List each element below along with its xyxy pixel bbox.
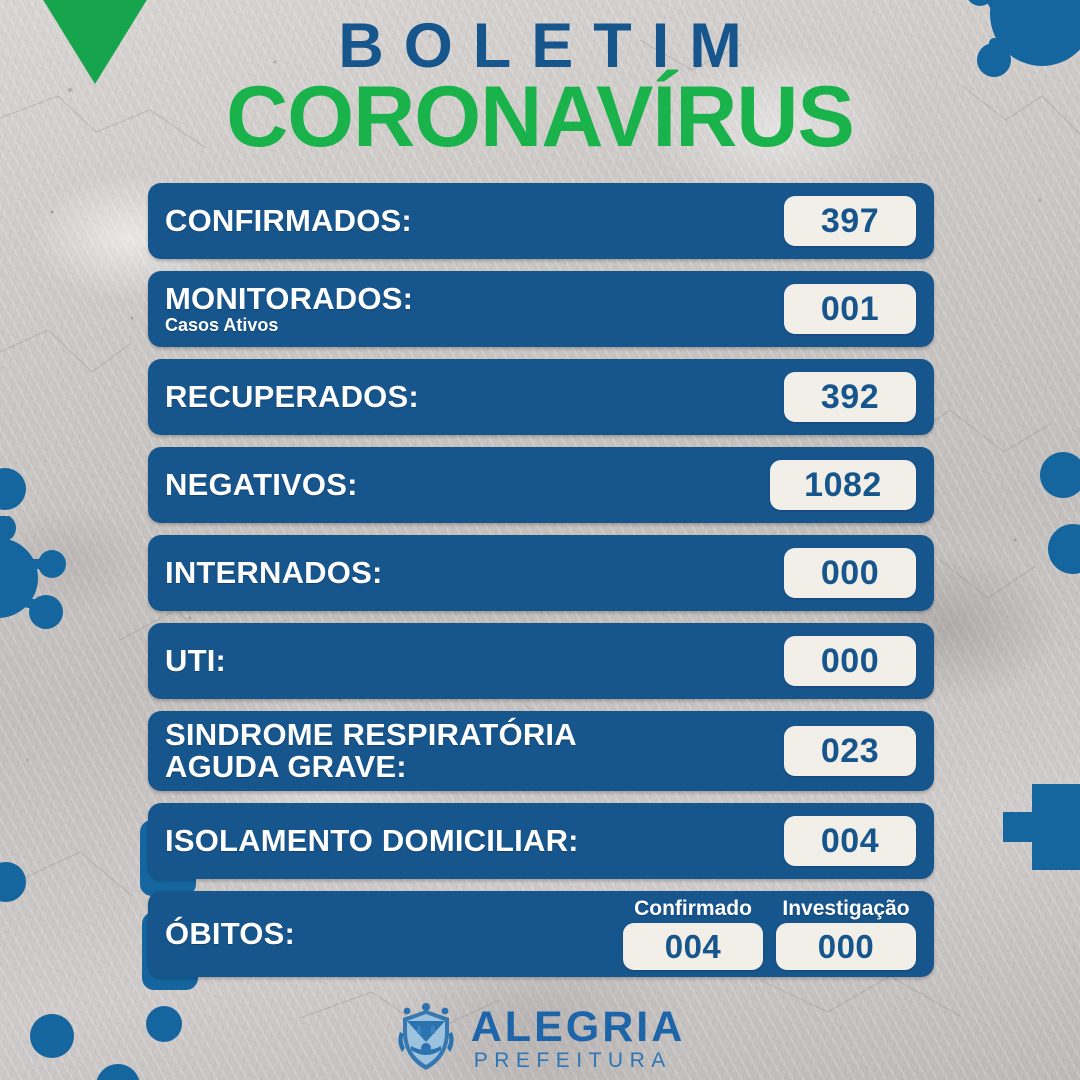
stat-label: CONFIRMADOS: [165, 205, 784, 237]
brand-text: ALEGRIA PREFEITURA [471, 1006, 686, 1071]
stat-row-obitos: ÓBITOS: Confirmado 004 Investigação 000 [148, 891, 934, 977]
obitos-caption: Confirmado [634, 898, 752, 919]
stat-label: UTI: [165, 645, 784, 677]
stat-value-badge: 004 [784, 816, 916, 866]
brand-name: ALEGRIA [471, 1006, 686, 1049]
stat-label-wrap: CONFIRMADOS: [165, 205, 784, 237]
stat-row-negativos: NEGATIVOS: 1082 [148, 447, 934, 523]
boletim-poster: BOLETIM CORONAVÍRUS CONFIRMADOS: 397 MON… [0, 0, 1080, 1080]
obitos-column-investigacao: Investigação 000 [776, 898, 916, 970]
decor-dot [0, 862, 26, 902]
coat-of-arms-icon [395, 1002, 457, 1074]
stat-value-badge: 001 [784, 284, 916, 334]
stat-label-wrap: UTI: [165, 645, 784, 677]
stat-row-sindrome-respiratoria-aguda-grave: SINDROME RESPIRATÓRIA AGUDA GRAVE: 023 [148, 711, 934, 791]
stat-label-wrap: ÓBITOS: [165, 918, 623, 950]
obitos-column-confirmado: Confirmado 004 [623, 898, 763, 970]
stat-row-recuperados: RECUPERADOS: 392 [148, 359, 934, 435]
poster-header: BOLETIM CORONAVÍRUS [0, 0, 1080, 159]
stat-label: SINDROME RESPIRATÓRIA AGUDA GRAVE: [165, 719, 784, 783]
stat-sublabel: Casos Ativos [165, 316, 784, 335]
stat-label: INTERNADOS: [165, 557, 784, 589]
stat-label-wrap: ISOLAMENTO DOMICILIAR: [165, 825, 784, 857]
stat-row-confirmados: CONFIRMADOS: 397 [148, 183, 934, 259]
stat-label: MONITORADOS: [165, 283, 784, 315]
obitos-caption: Investigação [782, 898, 909, 919]
decor-dot [1048, 524, 1080, 574]
footer-logo: ALEGRIA PREFEITURA [0, 1002, 1080, 1074]
stat-row-monitorados: MONITORADOS: Casos Ativos 001 [148, 271, 934, 347]
stat-value-badge: 000 [784, 548, 916, 598]
page-title-main: CORONAVÍRUS [0, 76, 1080, 159]
plus-cross-shape [1003, 812, 1039, 842]
brand-subtitle: PREFEITURA [474, 1050, 686, 1071]
stat-label: NEGATIVOS: [165, 469, 770, 501]
stat-label-wrap: RECUPERADOS: [165, 381, 784, 413]
obitos-value-badge: 000 [776, 923, 916, 970]
stat-value-badge: 397 [784, 196, 916, 246]
stat-label: ISOLAMENTO DOMICILIAR: [165, 825, 784, 857]
decor-dot [1040, 452, 1080, 498]
stat-value-badge: 000 [784, 636, 916, 686]
stat-value-badge: 023 [784, 726, 916, 776]
stat-label-wrap: MONITORADOS: Casos Ativos [165, 283, 784, 335]
stat-label-wrap: SINDROME RESPIRATÓRIA AGUDA GRAVE: [165, 719, 784, 783]
stat-label: RECUPERADOS: [165, 381, 784, 413]
stat-label: ÓBITOS: [165, 918, 623, 950]
decor-dot [0, 468, 26, 510]
virus-particle-icon [0, 516, 86, 636]
statistics-list: CONFIRMADOS: 397 MONITORADOS: Casos Ativ… [148, 183, 934, 989]
stat-value-badge: 392 [784, 372, 916, 422]
plus-cross-shape [1032, 812, 1080, 842]
stat-label-wrap: NEGATIVOS: [165, 469, 770, 501]
stat-row-uti: UTI: 000 [148, 623, 934, 699]
obitos-columns: Confirmado 004 Investigação 000 [623, 898, 916, 970]
obitos-value-badge: 004 [623, 923, 763, 970]
stat-row-internados: INTERNADOS: 000 [148, 535, 934, 611]
stat-row-isolamento-domiciliar: ISOLAMENTO DOMICILIAR: 004 [148, 803, 934, 879]
stat-label-wrap: INTERNADOS: [165, 557, 784, 589]
stat-value-badge: 1082 [770, 460, 916, 510]
